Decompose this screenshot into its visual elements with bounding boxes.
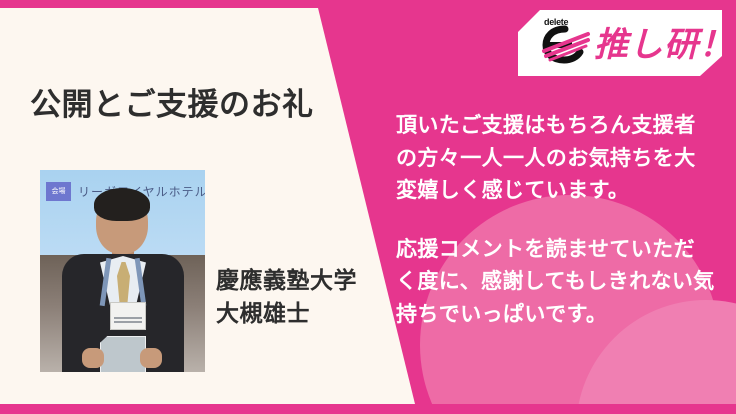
slide-root: 公開とご支援のお礼 会場 リーガロイヤルホテル広 慶應義塾大学 大槻雄士 頂いた… — [0, 0, 736, 414]
body-paragraph-1: 頂いたご支援はもちろん支援者の方々一人一人のお気持ちを大変嬉しく感じています。 — [396, 110, 716, 208]
logo-wordmark: 推し研！ — [594, 17, 734, 66]
caption-name: 大槻雄士 — [216, 297, 357, 330]
body-paragraph-2: 応援コメントを読ませていただく度に、感謝してもしきれない気持ちでいっぱいです。 — [396, 234, 716, 332]
photo-venue-chip: 会場 — [46, 182, 71, 201]
body-copy: 頂いたご支援はもちろん支援者の方々一人一人のお気持ちを大変嬉しく感じています。 … — [396, 110, 716, 331]
delete-e-mark-icon — [538, 18, 592, 68]
award-ceremony-photo: 会場 リーガロイヤルホテル広 — [40, 170, 205, 372]
photo-hand-right — [140, 348, 162, 368]
photo-person-hair — [94, 188, 150, 221]
photo-name-badge — [110, 302, 146, 330]
page-title: 公開とご支援のお礼 — [30, 79, 314, 124]
person-caption: 慶應義塾大学 大槻雄士 — [216, 264, 357, 331]
photo-hand-left — [82, 348, 104, 368]
bottom-accent-strip — [0, 404, 736, 414]
brand-logo-badge: delete 推し研！ — [518, 10, 722, 76]
caption-affiliation: 慶應義塾大学 — [216, 264, 357, 297]
